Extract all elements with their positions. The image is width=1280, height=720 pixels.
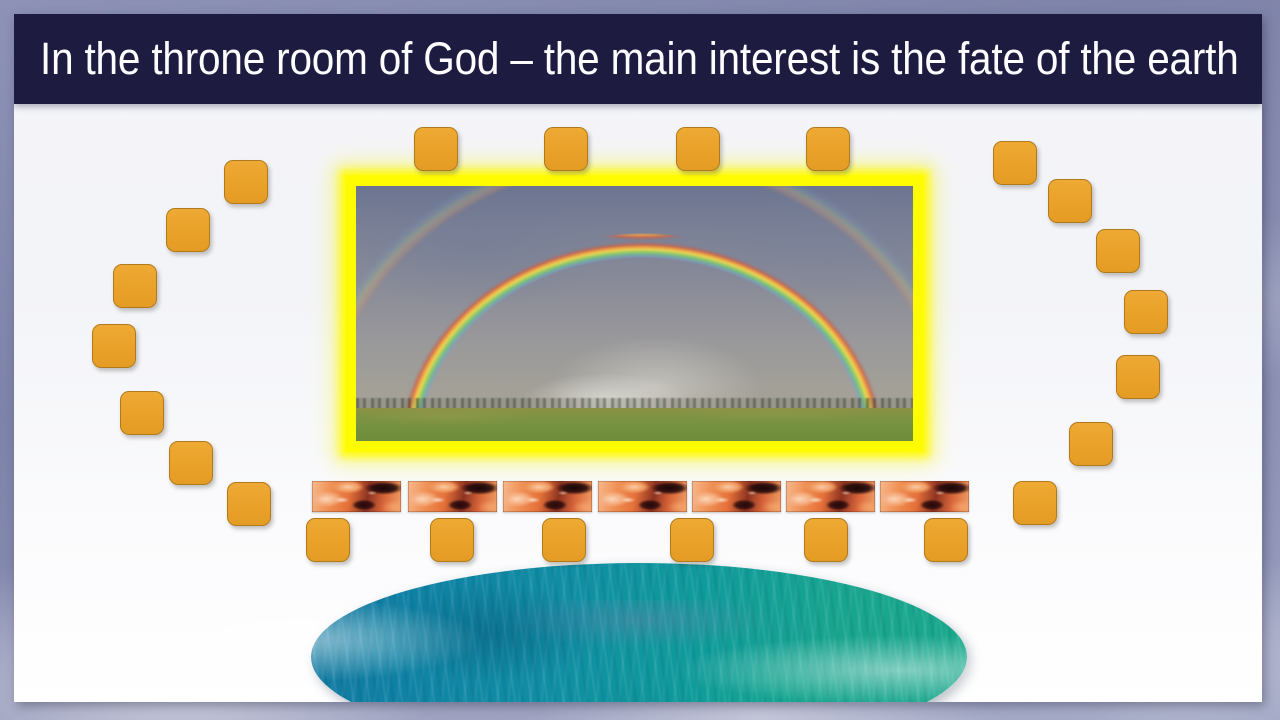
orange-marker[interactable]	[414, 127, 458, 171]
rainbow-image	[356, 186, 913, 441]
orange-marker[interactable]	[227, 482, 271, 526]
orange-marker[interactable]	[169, 441, 213, 485]
orange-marker[interactable]	[542, 518, 586, 562]
orange-marker[interactable]	[924, 518, 968, 562]
orange-marker[interactable]	[113, 264, 157, 308]
orange-marker[interactable]	[224, 160, 268, 204]
orange-marker[interactable]	[806, 127, 850, 171]
orange-marker[interactable]	[306, 518, 350, 562]
orange-marker[interactable]	[166, 208, 210, 252]
fire-tile[interactable]	[786, 481, 875, 512]
slide-title: In the throne room of God – the main int…	[40, 33, 1120, 85]
orange-marker[interactable]	[1096, 229, 1140, 273]
fire-tile[interactable]	[503, 481, 592, 512]
orange-marker[interactable]	[1013, 481, 1057, 525]
orange-marker[interactable]	[1124, 290, 1168, 334]
orange-marker[interactable]	[120, 391, 164, 435]
slide-canvas: In the throne room of God – the main int…	[14, 14, 1262, 702]
orange-marker[interactable]	[1116, 355, 1160, 399]
rainbow-image-frame[interactable]	[345, 175, 924, 452]
presentation-backdrop: In the throne room of God – the main int…	[0, 0, 1280, 720]
fire-tile[interactable]	[692, 481, 781, 512]
orange-marker[interactable]	[430, 518, 474, 562]
fire-tile[interactable]	[312, 481, 401, 512]
orange-marker[interactable]	[544, 127, 588, 171]
green-field	[356, 408, 913, 441]
slide-title-bar: In the throne room of God – the main int…	[14, 14, 1262, 104]
fire-tile[interactable]	[880, 481, 969, 512]
orange-marker[interactable]	[1048, 179, 1092, 223]
fire-tile[interactable]	[598, 481, 687, 512]
orange-marker[interactable]	[804, 518, 848, 562]
orange-marker[interactable]	[676, 127, 720, 171]
orange-marker[interactable]	[670, 518, 714, 562]
orange-marker[interactable]	[1069, 422, 1113, 466]
orange-marker[interactable]	[92, 324, 136, 368]
water-ellipse[interactable]	[311, 563, 967, 702]
fire-tile[interactable]	[408, 481, 497, 512]
orange-marker[interactable]	[993, 141, 1037, 185]
